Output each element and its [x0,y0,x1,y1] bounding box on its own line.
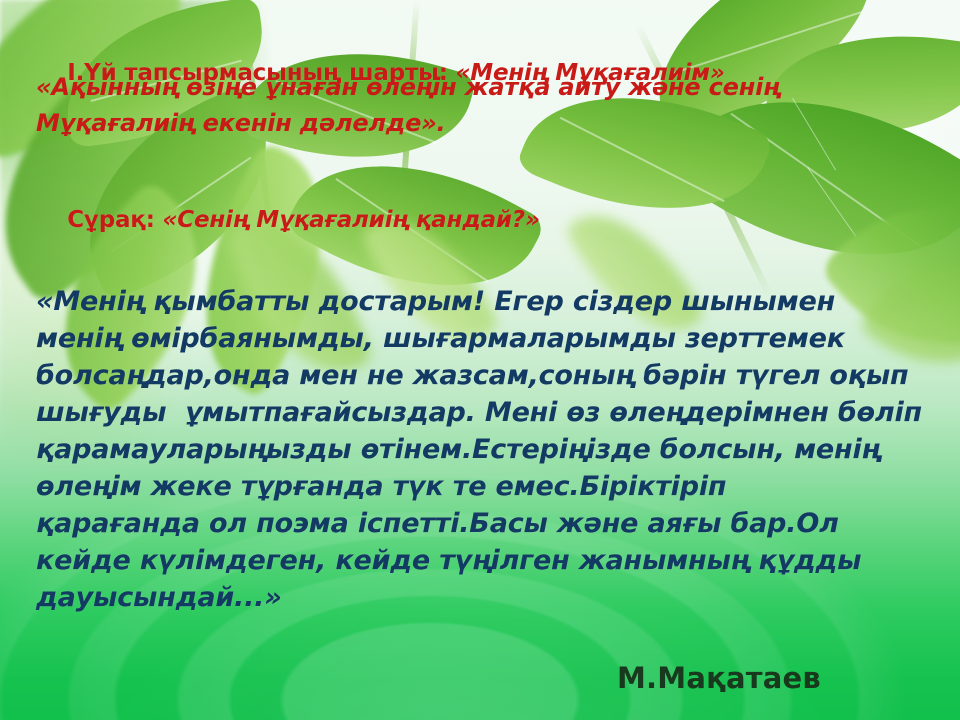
quote-line: менің өмірбаянымды, шығармаларымды зертт… [36,323,845,354]
question-line: Сұрақ: «Сенің Мұқағалиің қандай?» [36,180,540,260]
quote-line: болсаңдар,онда мен не жазсам,соның бәрін… [36,360,909,391]
homework-condition-line-2: «Ақынның өзіңе ұнаған өлеңін жатқа айту … [36,74,780,102]
quote-line: дауысындай...» [36,582,282,613]
presentation-slide: I.Үй тапсырмасының шарты: «Менің Мұқағал… [0,0,960,720]
quote-line: қарағанда ол поэма іспетті.Басы және аяғ… [36,508,839,539]
quote-line: өлеңім жеке тұрғанда түк те емес.Бірікті… [36,471,726,502]
question-text: «Сенің Мұқағалиің қандай?» [155,207,540,233]
author-signature: М.Мақатаев [617,662,821,696]
quote-line: шығуды ұмытпағайсыздар. Мені өз өлеңдері… [36,397,922,428]
quote-line: «Менің қымбатты достарым! Егер сіздер шы… [36,286,835,317]
quote-line: қарамауларыңызды өтінем.Естеріңізде болс… [36,434,880,465]
homework-condition-line-3: Мұқағалиің екенін дәлелде». [36,110,445,138]
quote-line: кейде күлімдеген, кейде түңілген жанымны… [36,545,861,576]
question-label: Сұрақ: [67,207,154,233]
